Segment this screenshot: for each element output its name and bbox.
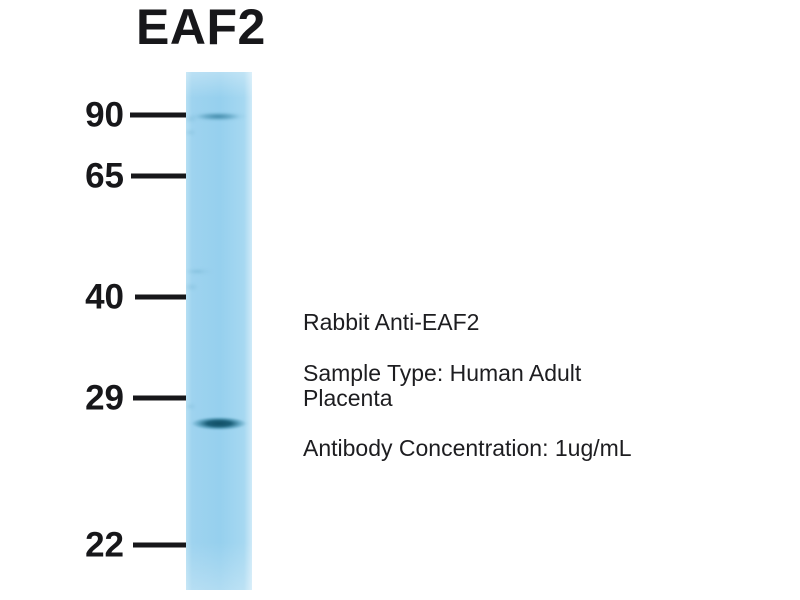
protein-band-90kda xyxy=(190,112,246,121)
mw-marker-label: 65 xyxy=(85,159,124,194)
annotation-antibody-concentration: Antibody Concentration: 1ug/mL xyxy=(303,436,773,461)
lane-speckle xyxy=(186,284,197,290)
gel-lane xyxy=(186,72,252,590)
mw-marker-dash xyxy=(130,113,186,118)
mw-marker-label: 90 xyxy=(85,98,124,133)
mw-marker-dash xyxy=(133,543,186,548)
protein-band-28kda xyxy=(189,417,249,430)
mw-marker-dash xyxy=(131,174,186,179)
mw-marker-dash xyxy=(135,295,186,300)
lane-speckle xyxy=(186,404,195,409)
annotation-sample-type: Sample Type: Human Adult Placenta xyxy=(303,361,773,411)
mw-marker-label: 40 xyxy=(85,280,124,315)
lane-speckle xyxy=(186,116,196,122)
mw-marker-dash xyxy=(133,396,186,401)
annotation-antibody-name: Rabbit Anti-EAF2 xyxy=(303,310,773,335)
annotation-block: Rabbit Anti-EAF2 Sample Type: Human Adul… xyxy=(303,310,773,461)
mw-marker-label: 29 xyxy=(85,381,124,416)
page-title: EAF2 xyxy=(136,2,266,53)
lane-speckle xyxy=(186,130,195,135)
western-blot-figure: EAF2 90 65 40 29 22 xyxy=(0,0,800,600)
protein-band-40kda xyxy=(187,268,213,275)
mw-marker-label: 22 xyxy=(85,528,124,563)
